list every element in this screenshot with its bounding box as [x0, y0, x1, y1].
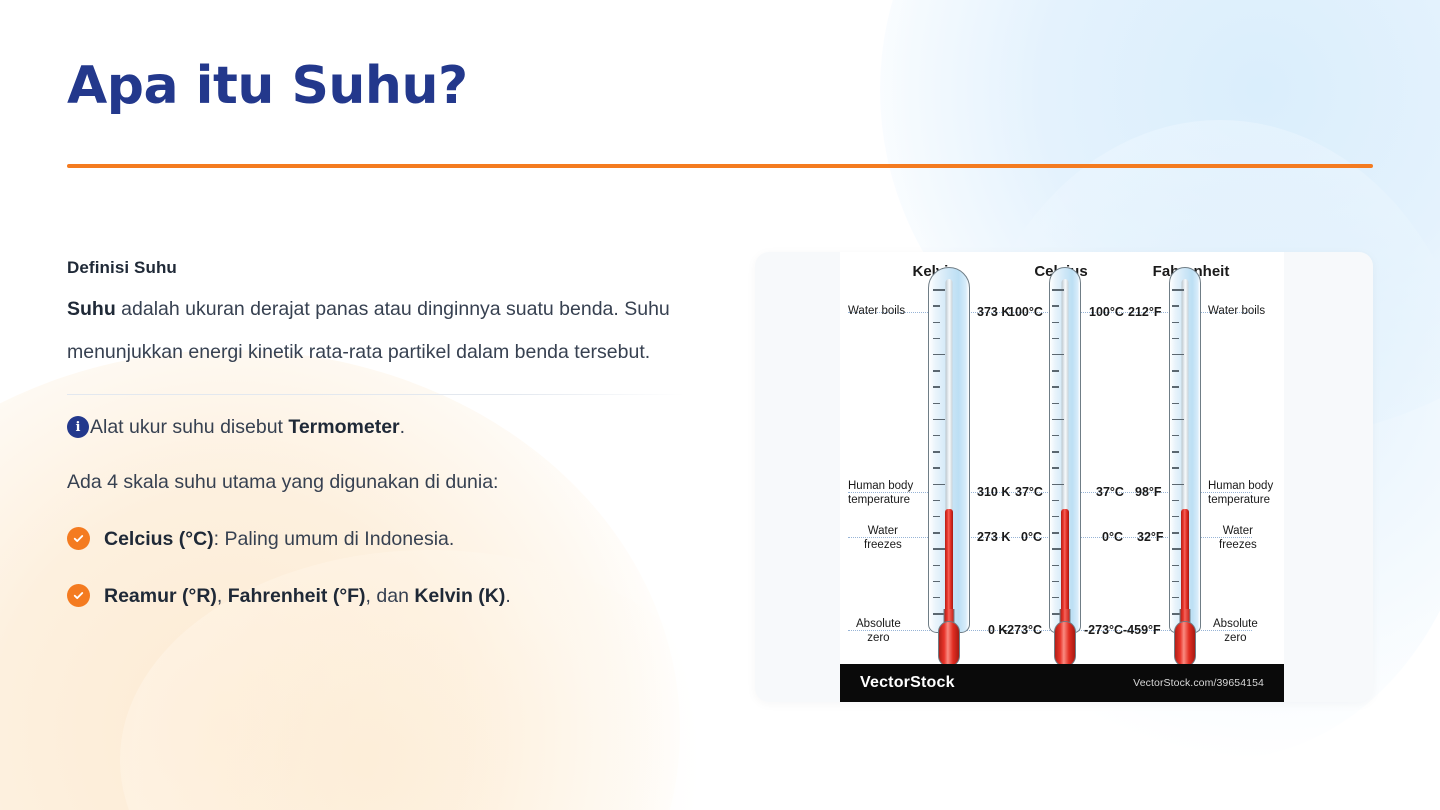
value-kelvin-body-temp: 310 K — [977, 485, 1010, 499]
list-item: Reamur (°R), Fahrenheit (°F), dan Kelvin… — [67, 582, 692, 610]
value-fahrenheit-absolute-zero: -459°F — [1123, 623, 1161, 637]
definition-lead-word: Suhu — [67, 298, 116, 320]
row-label-right-water-freezes: Waterfreezes — [1219, 525, 1257, 553]
value-celsius-right-absolute-zero: -273°C — [1084, 623, 1123, 637]
value-celsius-left-water-freezes: 0°C — [1021, 530, 1042, 544]
label-line-1: Human body — [1208, 480, 1273, 492]
definition-rest-text: adalah ukuran derajat panas atau dinginn… — [67, 298, 670, 363]
label-line-2: temperature — [848, 494, 910, 506]
title-underline-rule — [67, 164, 1373, 168]
value-celsius-left-water-boils: 100°C — [1008, 305, 1043, 319]
value-celsius-left-absolute-zero: -273°C — [1003, 623, 1042, 637]
row-label-right-water-boils: Water boils — [1208, 305, 1265, 319]
row-label-left-body-temp: Human bodytemperature — [848, 480, 913, 508]
info-note-bold: Termometer — [288, 416, 399, 438]
list-item-segment: , — [217, 585, 228, 607]
value-fahrenheit-body-temp: 98°F — [1135, 485, 1162, 499]
watermark-bar: VectorStock VectorStock.com/39654154 — [840, 664, 1284, 702]
info-icon: i — [67, 416, 89, 438]
thermometer-bulb — [1054, 621, 1076, 667]
row-label-left-absolute-zero: Absolutezero — [856, 618, 901, 646]
slide-root: Apa itu Suhu? Definisi Suhu Suhu adalah … — [0, 0, 1440, 810]
row-label-left-water-boils: Water boils — [848, 305, 905, 319]
list-item: Celcius (°C): Paling umum di Indonesia. — [67, 525, 692, 553]
value-fahrenheit-water-boils: 212°F — [1128, 305, 1162, 319]
label-line-1: Human body — [848, 480, 913, 492]
row-label-left-water-freezes: Waterfreezes — [864, 525, 902, 553]
label-line-1: Absolute — [856, 618, 901, 630]
list-item-text: Reamur (°R), Fahrenheit (°F), dan Kelvin… — [104, 582, 511, 610]
list-item-text: Celcius (°C): Paling umum di Indonesia. — [104, 525, 454, 553]
thermometer-ticks — [933, 289, 945, 615]
row-label-right-body-temp: Human bodytemperature — [1208, 480, 1273, 508]
thermometer-diagram: Kelvin Celsius Fahrenheit — [840, 252, 1284, 702]
list-item-segment: . — [505, 585, 510, 607]
value-celsius-left-body-temp: 37°C — [1015, 485, 1043, 499]
value-celsius-right-body-temp: 37°C — [1096, 485, 1124, 499]
value-celsius-right-water-boils: 100°C — [1089, 305, 1124, 319]
thermometer-kelvin — [928, 267, 970, 667]
list-item-segment: , dan — [366, 585, 415, 607]
label-line-2: zero — [1224, 632, 1246, 644]
page-title: Apa itu Suhu? — [67, 56, 1373, 116]
list-item-rest: : Paling umum di Indonesia. — [214, 528, 455, 550]
row-label-right-absolute-zero: Absolutezero — [1213, 618, 1258, 646]
thermometer-bulb — [1174, 621, 1196, 667]
value-celsius-right-water-freezes: 0°C — [1102, 530, 1123, 544]
label-line-2: freezes — [1219, 539, 1257, 551]
check-circle-icon — [67, 527, 90, 550]
list-item-segment: Fahrenheit (°F) — [228, 585, 366, 607]
definition-heading: Definisi Suhu — [67, 258, 692, 278]
label-line-1: Water — [1223, 525, 1253, 537]
info-note-text: Alat ukur suhu disebut Termometer. — [90, 413, 405, 442]
list-item-segment: Reamur (°R) — [104, 585, 217, 607]
label-line-1: Absolute — [1213, 618, 1258, 630]
list-item-segment: Kelvin (K) — [414, 585, 505, 607]
definition-paragraph: Suhu adalah ukuran derajat panas atau di… — [67, 288, 692, 374]
watermark-brand: VectorStock — [860, 674, 955, 692]
value-fahrenheit-water-freezes: 32°F — [1137, 530, 1164, 544]
watermark-url: VectorStock.com/39654154 — [1133, 677, 1264, 689]
value-kelvin-water-boils: 373 K — [977, 305, 1010, 319]
thermometer-fahrenheit — [1169, 267, 1201, 667]
info-note-suffix: . — [400, 416, 405, 438]
info-note-row: i Alat ukur suhu disebut Termometer. — [67, 413, 692, 442]
content-divider — [67, 394, 685, 395]
value-kelvin-water-freezes: 273 K — [977, 530, 1010, 544]
info-note-prefix: Alat ukur suhu disebut — [90, 416, 288, 438]
thermometer-image-card: Kelvin Celsius Fahrenheit — [755, 252, 1373, 702]
label-line-2: freezes — [864, 539, 902, 551]
list-item-bold: Celcius (°C) — [104, 528, 214, 550]
scales-intro-text: Ada 4 skala suhu utama yang digunakan di… — [67, 468, 692, 497]
check-circle-icon — [67, 584, 90, 607]
content-column: Definisi Suhu Suhu adalah ukuran derajat… — [67, 258, 692, 638]
label-line-2: temperature — [1208, 494, 1270, 506]
thermometer-bulb — [938, 621, 960, 667]
label-line-2: zero — [867, 632, 889, 644]
label-line-1: Water — [868, 525, 898, 537]
thermometer-celsius — [1049, 267, 1081, 667]
slide-header: Apa itu Suhu? — [67, 56, 1373, 168]
